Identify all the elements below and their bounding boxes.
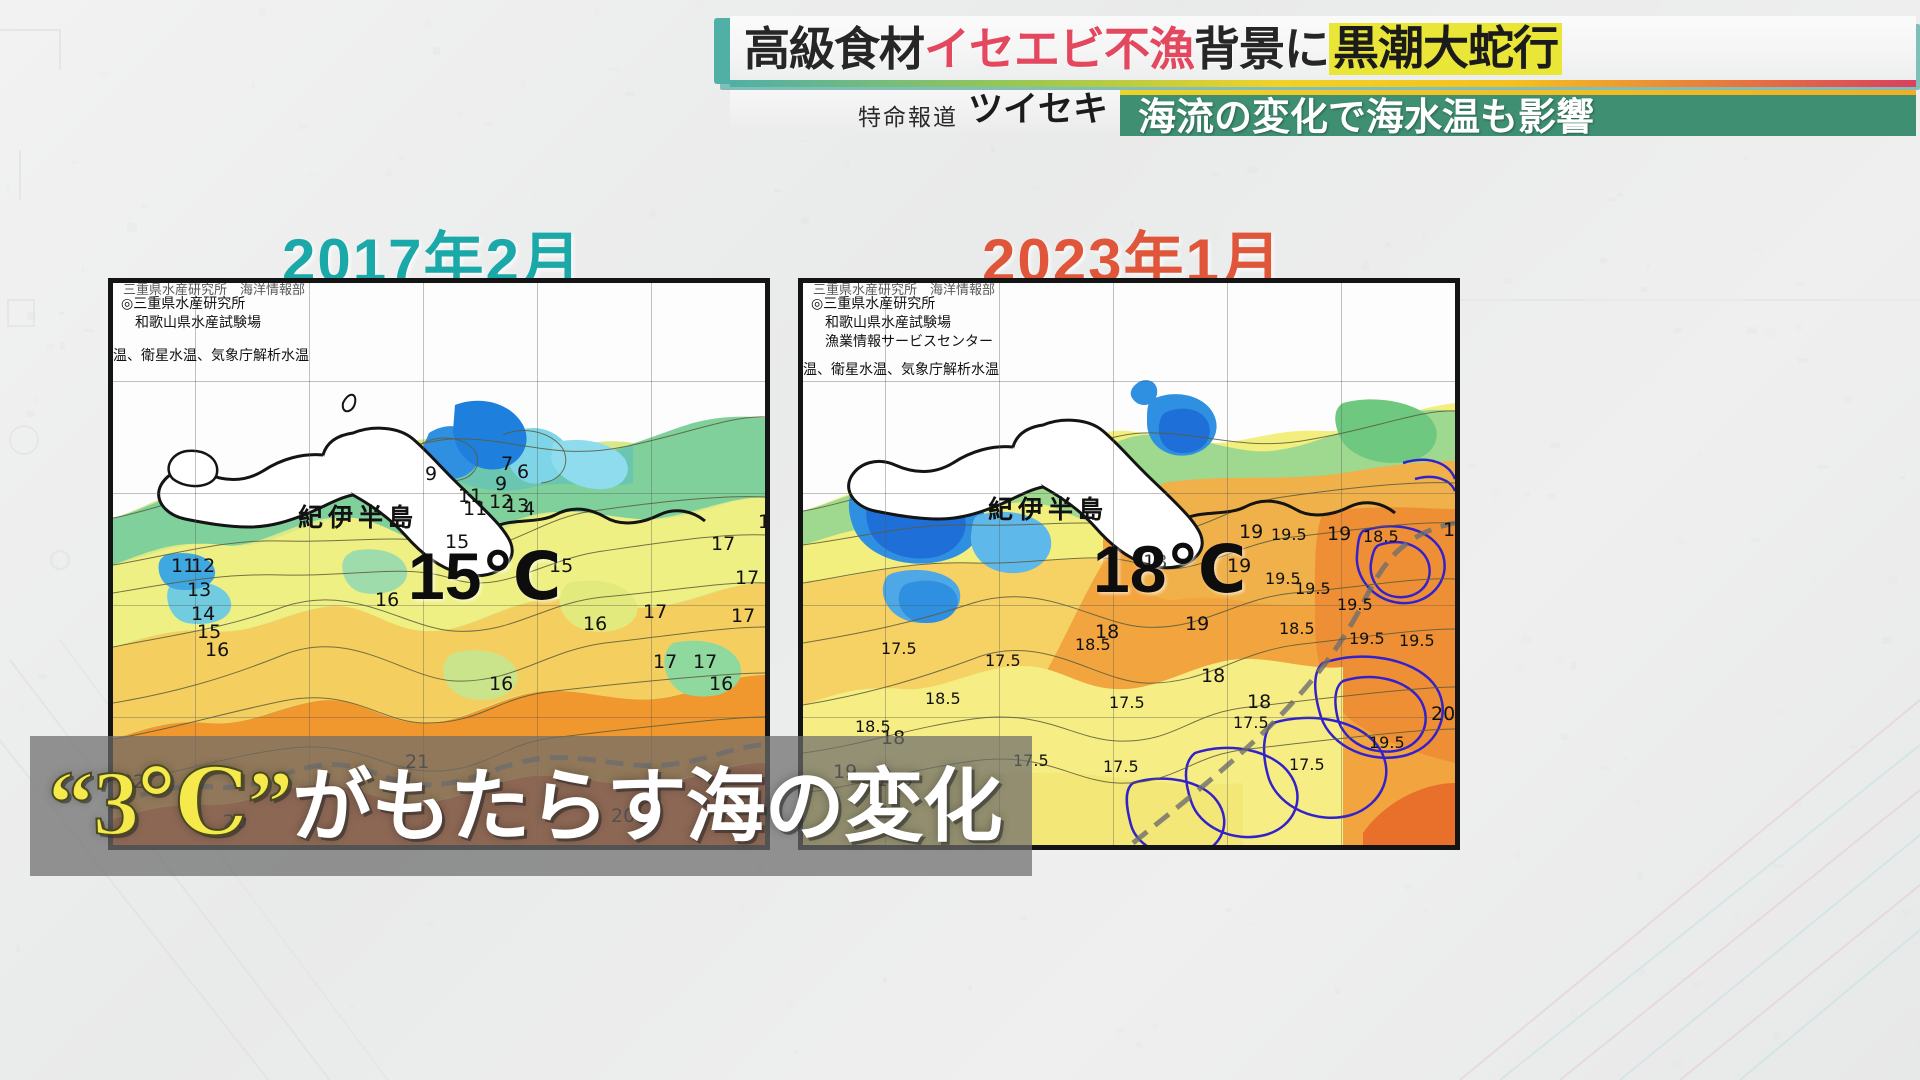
isotherm-label: 19.5 [1295, 579, 1331, 598]
map-gridline-horizontal [113, 381, 765, 382]
map-credit-2017: ◎三重県水産研究所 和歌山県水産試験場 [121, 295, 261, 333]
program-sub-label: 特命報道 [858, 98, 958, 132]
isotherm-label: 16 [583, 613, 607, 635]
isotherm-label: 7 [501, 453, 513, 475]
isotherm-label: 19.5 [1337, 595, 1373, 614]
caption-emphasis: “3℃” [48, 752, 292, 854]
isotherm-label: 16 [489, 673, 513, 695]
isotherm-label: 18 [1247, 691, 1271, 713]
map-gridline-horizontal [113, 717, 765, 718]
isotherm-label: 17.5 [881, 639, 917, 658]
headline-accent-tab [714, 18, 730, 84]
isotherm-label: 17.5 [1109, 693, 1145, 712]
map-gridline-horizontal [803, 493, 1455, 494]
isotherm-label: 18.5 [1363, 527, 1399, 546]
caption-text: “3℃”がもたらす海の変化 [48, 742, 1002, 858]
isotherm-label: 17 [711, 533, 735, 555]
isotherm-label: 19.5 [1271, 525, 1307, 544]
isotherm-label: 19.5 [1349, 629, 1385, 648]
isotherm-label: 17.5 [1103, 757, 1139, 776]
subheader-row: 特命報道 ツイセキ 海流の変化で海水温も影響 [714, 90, 1920, 138]
map-gridline-vertical [1341, 283, 1342, 845]
broadcast-screen: 高級食材 イセエビ不漁 背景に 黒潮大蛇行 特命報道 ツイセキ 海流の変化で海水… [0, 0, 1920, 1080]
headline-rainbow-underline [730, 80, 1916, 87]
program-main-label: ツイセキ [968, 81, 1108, 132]
map-gridline-horizontal [803, 381, 1455, 382]
isotherm-label: 12 [191, 555, 215, 577]
isotherm-label: 18 [1201, 665, 1225, 687]
isotherm-label: 20 [1431, 703, 1455, 725]
isotherm-label: 19.5 [1369, 733, 1405, 752]
isotherm-label: 18.5 [925, 689, 961, 708]
isotherm-label: 17 [735, 567, 759, 589]
isotherm-label: 11 [463, 498, 487, 520]
isotherm-label: 17 [653, 651, 677, 673]
isotherm-label: 4 [523, 498, 535, 520]
isotherm-label: 13 [187, 579, 211, 601]
isotherm-label: 18.5 [1075, 635, 1111, 654]
isotherm-label: 17 [693, 651, 717, 673]
program-logo: 特命報道 ツイセキ [730, 90, 1120, 134]
isotherm-label: 17.5 [985, 651, 1021, 670]
isotherm-label: 16 [758, 511, 770, 533]
caption-rest: がもたらす海の変化 [292, 764, 1001, 852]
map-gridline-horizontal [803, 717, 1455, 718]
banner-text: 海流の変化で海水温も影響 [1138, 90, 1594, 136]
region-label-2023: 紀伊半島 [988, 490, 1108, 526]
isotherm-label: 6 [517, 461, 529, 483]
map-credit-secondary-2017: 温、衛星水温、気象庁解析水温 [113, 345, 309, 365]
isotherm-label: 16 [375, 589, 399, 611]
headline-container: 高級食材 イセエビ不漁 背景に 黒潮大蛇行 [714, 16, 1920, 88]
region-label-2017: 紀伊半島 [298, 498, 418, 534]
headline-temperature-2017: 15℃ [408, 538, 561, 615]
map-gridline-horizontal [113, 493, 765, 494]
isotherm-label: 17 [643, 601, 667, 623]
isotherm-label: 16 [709, 673, 733, 695]
headline-segment-1: 高級食材 [744, 26, 924, 72]
isotherm-label: 19 [1327, 523, 1351, 545]
isotherm-label: 18.5 [1279, 619, 1315, 638]
isotherm-label: 19.5 [1399, 631, 1435, 650]
headline-segment-4-highlighted: 黒潮大蛇行 [1329, 23, 1562, 75]
headline-bar: 高級食材 イセエビ不漁 背景に 黒潮大蛇行 [730, 16, 1916, 82]
isotherm-label: 16 [205, 639, 229, 661]
isotherm-label: 17.5 [1233, 713, 1269, 732]
map-credit-2023: ◎三重県水産研究所 和歌山県水産試験場 漁業情報サービスセンター [811, 295, 993, 352]
headline-temperature-2023: 18℃ [1093, 531, 1246, 608]
isotherm-label: 19 [1185, 613, 1209, 635]
isotherm-label: 9 [425, 463, 437, 485]
map-credit-secondary-2023: 温、衛星水温、気象庁解析水温 [803, 359, 999, 379]
isotherm-label: 17.5 [1289, 755, 1325, 774]
banner-top-accent [1120, 90, 1916, 95]
green-subtitle-banner: 海流の変化で海水温も影響 [1120, 90, 1916, 136]
isotherm-label: 19 [1443, 519, 1460, 541]
isotherm-label: 17 [731, 605, 755, 627]
headline-segment-2: イセエビ不漁 [924, 26, 1194, 72]
headline-segment-3: 背景に [1194, 26, 1329, 72]
